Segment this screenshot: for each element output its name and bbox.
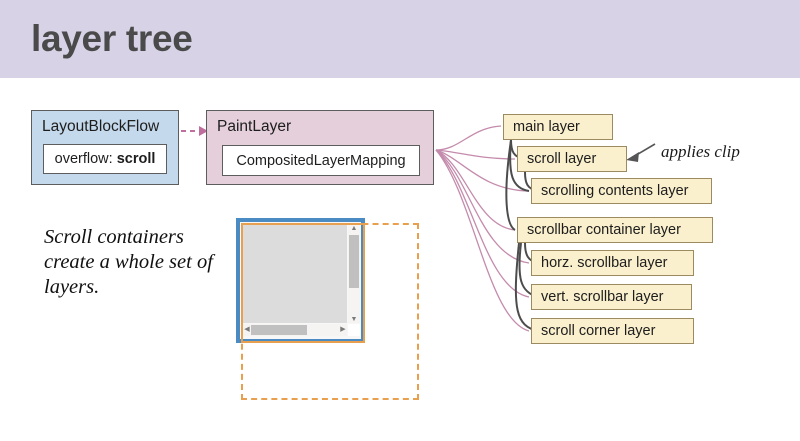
- layer-box-scrollbar-container[interactable]: scrollbar container layer: [517, 217, 713, 243]
- layer-box-main-layer[interactable]: main layer: [503, 114, 613, 140]
- compositedlayermapping-fan: [436, 126, 529, 331]
- node-layoutblockflow[interactable]: LayoutBlockFlow overflow: scroll: [31, 110, 179, 185]
- applies-clip-arrow: [626, 144, 655, 162]
- page-title: layer tree: [31, 17, 193, 61]
- applies-clip-annotation: applies clip: [661, 142, 740, 162]
- dashed-relation-arrow: [181, 126, 208, 136]
- layer-box-scrolling-contents[interactable]: scrolling contents layer: [531, 178, 712, 204]
- node-paintlayer[interactable]: PaintLayer CompositedLayerMapping: [206, 110, 434, 185]
- compositedlayermapping-chip: CompositedLayerMapping: [222, 145, 420, 176]
- node-layoutblockflow-title: LayoutBlockFlow: [42, 118, 159, 136]
- overflow-property-label: overflow:: [55, 151, 113, 167]
- scrolling-contents-overlay: [241, 223, 419, 400]
- slide-canvas: layer tree: [0, 0, 800, 441]
- layer-box-scroll-layer[interactable]: scroll layer: [517, 146, 627, 172]
- layer-box-vert-scrollbar[interactable]: vert. scrollbar layer: [531, 284, 692, 310]
- scroll-containers-note: Scroll containers create a whole set of …: [44, 225, 234, 300]
- layer-box-horz-scrollbar[interactable]: horz. scrollbar layer: [531, 250, 694, 276]
- node-paintlayer-title: PaintLayer: [217, 118, 291, 136]
- layer-box-scroll-corner[interactable]: scroll corner layer: [531, 318, 694, 344]
- overflow-property-value: scroll: [117, 151, 156, 167]
- overflow-property-chip: overflow: scroll: [43, 144, 167, 174]
